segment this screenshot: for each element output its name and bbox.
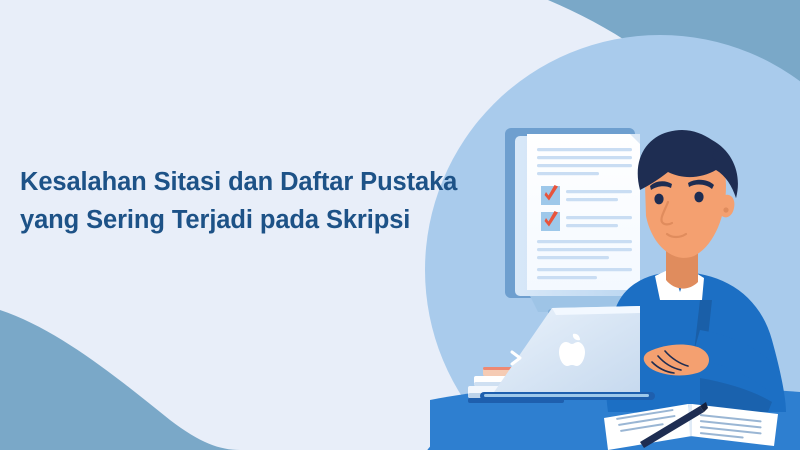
person-ear-detail xyxy=(723,207,728,212)
laptop-base-highlight xyxy=(484,394,649,397)
page-title: Kesalahan Sitasi dan Daftar Pustaka yang… xyxy=(20,163,490,239)
headline-line-1: Kesalahan Sitasi dan Daftar Pustaka xyxy=(20,163,490,201)
person-eye-left xyxy=(654,194,663,205)
headline-line-2: yang Sering Terjadi pada Skripsi xyxy=(20,201,490,239)
person-eye-right xyxy=(694,192,703,203)
poster-canvas: Kesalahan Sitasi dan Daftar Pustaka yang… xyxy=(0,0,800,450)
